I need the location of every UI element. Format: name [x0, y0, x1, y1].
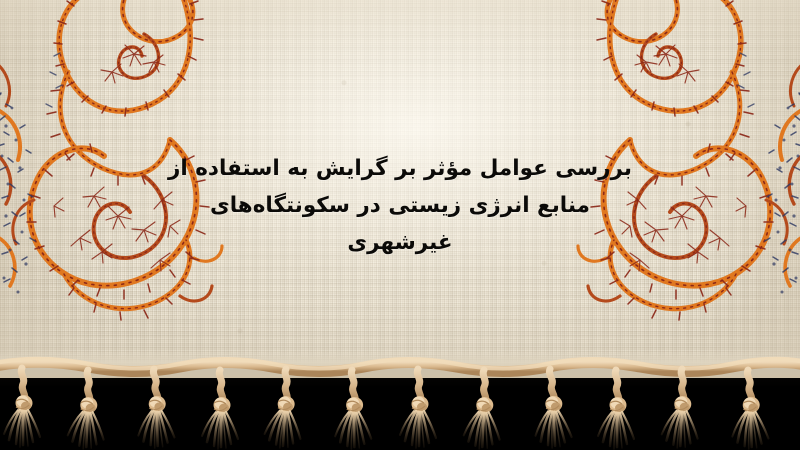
title-line-1: بررسی عوامل مؤثر بر گرایش به استفاده از: [150, 150, 650, 187]
fabric-hem: [0, 352, 800, 378]
title-line-2: منابع انرژی زیستی در سکونتگاه‌های: [150, 187, 650, 224]
slide-title: بررسی عوامل مؤثر بر گرایش به استفاده از …: [150, 150, 650, 261]
lower-black-band: [0, 366, 800, 450]
title-line-3: غیرشهری: [150, 224, 650, 261]
slide-canvas: بررسی عوامل مؤثر بر گرایش به استفاده از …: [0, 0, 800, 450]
